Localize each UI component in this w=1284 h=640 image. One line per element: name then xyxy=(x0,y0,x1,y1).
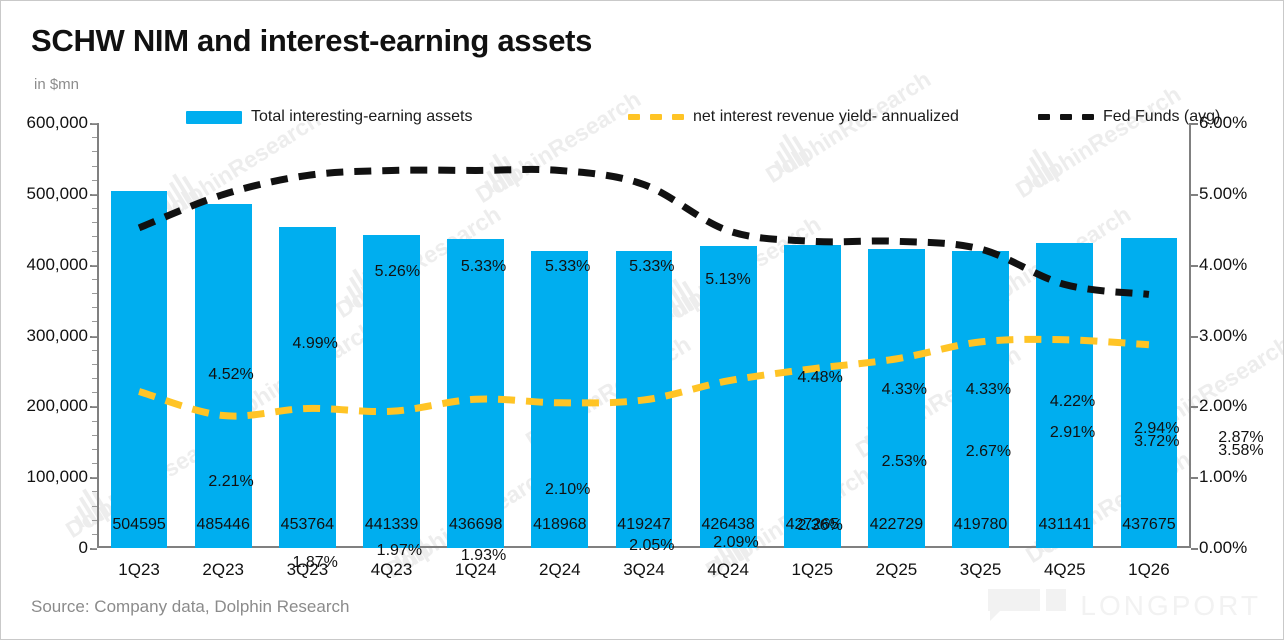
fed-funds-point-label: 5.26% xyxy=(355,263,439,281)
category-label: 1Q24 xyxy=(434,560,518,580)
chart-footer: Source: Company data, Dolphin Research L… xyxy=(1,583,1284,639)
left-axis-tick-label: 200,000 xyxy=(6,396,88,416)
category-label: 2Q23 xyxy=(181,560,265,580)
right-axis-tick-label: 3.00% xyxy=(1199,326,1247,346)
nim-yield-point-label: 2.67% xyxy=(946,443,1030,461)
fed-funds-point-label: 5.33% xyxy=(610,258,694,276)
right-axis-tick-label: 5.00% xyxy=(1199,184,1247,204)
fed-funds-point-label: 4.33% xyxy=(946,381,1030,399)
left-axis-tick-label: 300,000 xyxy=(6,326,88,346)
chart-units-subtitle: in $mn xyxy=(34,76,79,93)
nim-yield-point-label: 2.36% xyxy=(778,517,862,535)
nim-yield-point-label: 2.21% xyxy=(189,473,273,491)
left-axis-tick-label: 0 xyxy=(6,538,88,558)
chart-page: DolphinResearchDolphinResearchDolphinRes… xyxy=(0,0,1284,640)
fed-funds-point-label: 4.22% xyxy=(1031,393,1115,411)
left-axis-tick-label: 500,000 xyxy=(6,184,88,204)
category-label: 2Q24 xyxy=(518,560,602,580)
right-axis-tick-label: 1.00% xyxy=(1199,467,1247,487)
nim-yield-point-label: 2.94% xyxy=(1115,420,1199,438)
category-label: 1Q26 xyxy=(1107,560,1191,580)
right-axis-tick-label: 2.00% xyxy=(1199,396,1247,416)
page-title: SCHW NIM and interest-earning assets xyxy=(31,23,592,59)
right-axis-major-tick xyxy=(1191,194,1198,196)
right-axis-major-tick xyxy=(1191,548,1198,550)
category-label: 3Q24 xyxy=(602,560,686,580)
nim-yield-point-label: 2.10% xyxy=(526,481,610,499)
right-axis-major-tick xyxy=(1191,336,1198,338)
left-axis-minor-tick xyxy=(92,548,97,549)
source-note: Source: Company data, Dolphin Research xyxy=(31,597,349,617)
category-label: 3Q23 xyxy=(265,560,349,580)
right-axis-major-tick xyxy=(1191,265,1198,267)
plot-area: 5045954854464537644413394366984189684192… xyxy=(97,123,1191,548)
fed-funds-point-label: 4.99% xyxy=(273,335,357,353)
category-label: 1Q25 xyxy=(770,560,854,580)
nim-yield-point-label: 2.05% xyxy=(610,537,694,555)
nim-yield-point-label: 2.53% xyxy=(862,453,946,471)
right-axis-major-tick xyxy=(1191,123,1198,125)
category-label: 4Q24 xyxy=(686,560,770,580)
fed-funds-point-label: 4.33% xyxy=(862,381,946,399)
right-axis-tick-label: 4.00% xyxy=(1199,255,1247,275)
right-axis-major-tick xyxy=(1191,406,1198,408)
left-axis-tick-label: 600,000 xyxy=(6,113,88,133)
category-label: 1Q23 xyxy=(97,560,181,580)
longport-wordmark: LONGPORT xyxy=(1080,590,1261,622)
right-axis-major-tick xyxy=(1191,477,1198,479)
right-axis-tick-label: 0.00% xyxy=(1199,538,1247,558)
fed-funds-point-label: 4.48% xyxy=(778,369,862,387)
nim-yield-point-label: 2.09% xyxy=(694,534,778,552)
legend-swatch-bar xyxy=(186,111,242,124)
category-label: 3Q25 xyxy=(939,560,1023,580)
fed-funds-point-label: 4.52% xyxy=(189,366,273,384)
category-label: 2Q25 xyxy=(854,560,938,580)
right-axis-tick-label: 6.00% xyxy=(1199,113,1247,133)
fed-funds-point-label: 5.33% xyxy=(526,258,610,276)
left-axis-tick-label: 100,000 xyxy=(6,467,88,487)
speech-bubble-icon xyxy=(988,589,1066,623)
left-axis-tick-label: 400,000 xyxy=(6,255,88,275)
nim-yield-point-label: 2.91% xyxy=(1031,424,1115,442)
nim-yield-point-label: 2.87% xyxy=(1199,429,1283,447)
fed-funds-point-label: 5.13% xyxy=(686,271,770,289)
nim-yield-point-label: 1.97% xyxy=(357,542,441,560)
longport-logo: LONGPORT xyxy=(988,589,1261,623)
category-label: 4Q25 xyxy=(1023,560,1107,580)
category-label: 4Q23 xyxy=(349,560,433,580)
fed-funds-point-label: 5.33% xyxy=(441,258,525,276)
